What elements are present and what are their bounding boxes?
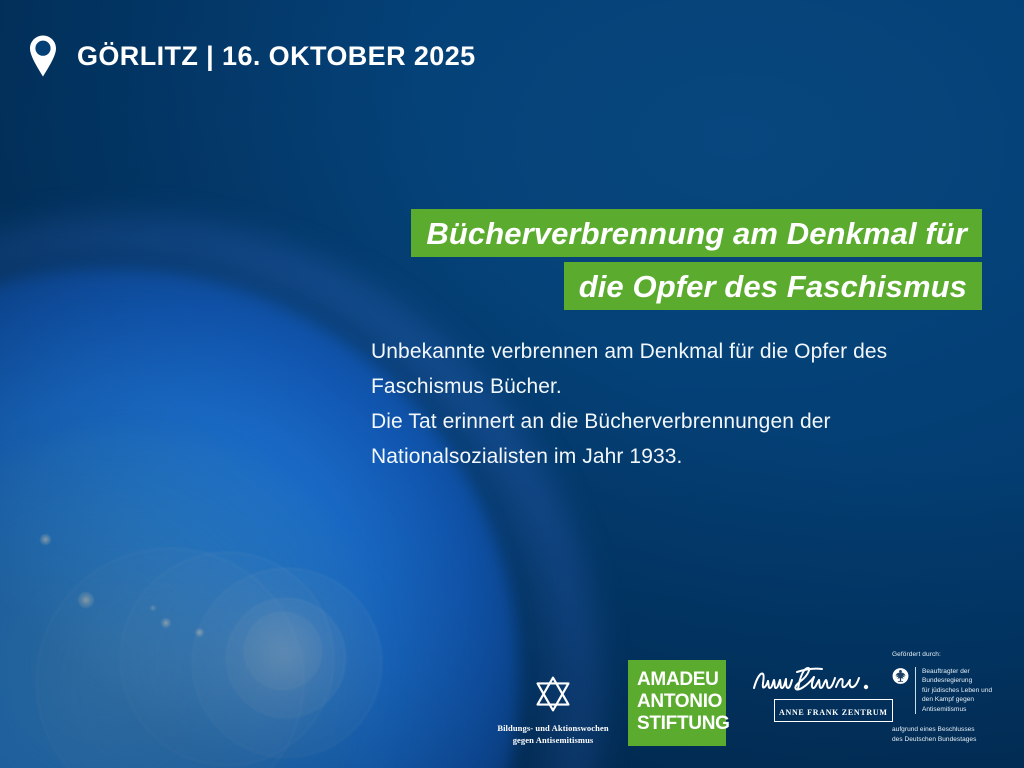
federal-eagle-icon [892,667,909,685]
body-line-4: Nationalsozialisten im Jahr 1933. [371,445,682,468]
logo-bildungswochen-caption: Bildungs- und Aktionswochen gegen Antise… [480,722,626,746]
logo-bundesregierung: Gefördert durch: Beauftragter der Bundes… [892,650,1014,745]
body-line-3: Die Tat erinnert an die Bücherverbrennun… [371,410,831,433]
logo-amadeu-antonio-stiftung: AMADEU ANTONIO STIFTUNG [628,660,726,746]
logo-bildungswochen-line-2: gegen Antisemitismus [513,735,594,745]
logo-bildungswochen: Bildungs- und Aktionswochen gegen Antise… [480,674,626,746]
logo-bund-dept-line-2: für jüdisches Leben und [922,687,992,694]
headline-line-2: die Opfer des Faschismus [564,262,982,310]
header-title: GÖRLITZ | 16. OKTOBER 2025 [77,43,476,70]
logo-bund-department-text: Beauftragter der Bundesregierung für jüd… [922,667,1014,715]
poster-canvas: GÖRLITZ | 16. OKTOBER 2025 Bücherverbren… [0,0,1024,768]
logo-bund-resolution-line-1: aufgrund eines Beschlusses [892,726,975,733]
logo-amadeu-line-1: AMADEU [637,669,726,691]
header: GÖRLITZ | 16. OKTOBER 2025 [28,34,476,78]
anne-frank-signature-icon [750,663,880,697]
logo-afz-label: ANNE FRANK ZENTRUM [779,708,888,717]
logo-afz-label-box: ANNE FRANK ZENTRUM [774,699,893,722]
logo-bund-dept-line-3: den Kampf gegen Antisemitismus [922,696,974,713]
headline-line-1: Bücherverbrennung am Denkmal für [411,209,982,257]
body-copy: Unbekannte verbrennen am Denkmal für die… [371,334,1001,474]
map-pin-icon [28,34,58,78]
logo-bund-dept-line-1: Beauftragter der Bundesregierung [922,668,972,685]
logo-bund-department: Beauftragter der Bundesregierung für jüd… [892,667,1014,715]
headline-block: Bücherverbrennung am Denkmal fürdie Opfe… [342,207,982,313]
logo-bund-resolution-line-2: des Deutschen Bundestages [892,736,976,743]
logo-amadeu-line-2: ANTONIO [637,691,726,713]
logo-amadeu-line-3: STIFTUNG [637,713,726,735]
body-line-1: Unbekannte verbrennen am Denkmal für die… [371,340,887,363]
body-line-2: Faschismus Bücher. [371,375,562,398]
logo-bund-divider [915,667,916,715]
logo-bildungswochen-line-1: Bildungs- und Aktionswochen [497,723,608,733]
page-title: Bücherverbrennung am Denkmal fürdie Opfe… [342,207,982,313]
logo-anne-frank-zentrum: ANNE FRANK ZENTRUM [750,663,880,722]
star-of-david-icon [480,674,626,714]
logo-strip: Bildungs- und Aktionswochen gegen Antise… [480,650,1014,746]
logo-bund-resolution: aufgrund eines Beschlusses des Deutschen… [892,725,1014,744]
logo-bund-funded-by: Gefördert durch: [892,650,1014,659]
